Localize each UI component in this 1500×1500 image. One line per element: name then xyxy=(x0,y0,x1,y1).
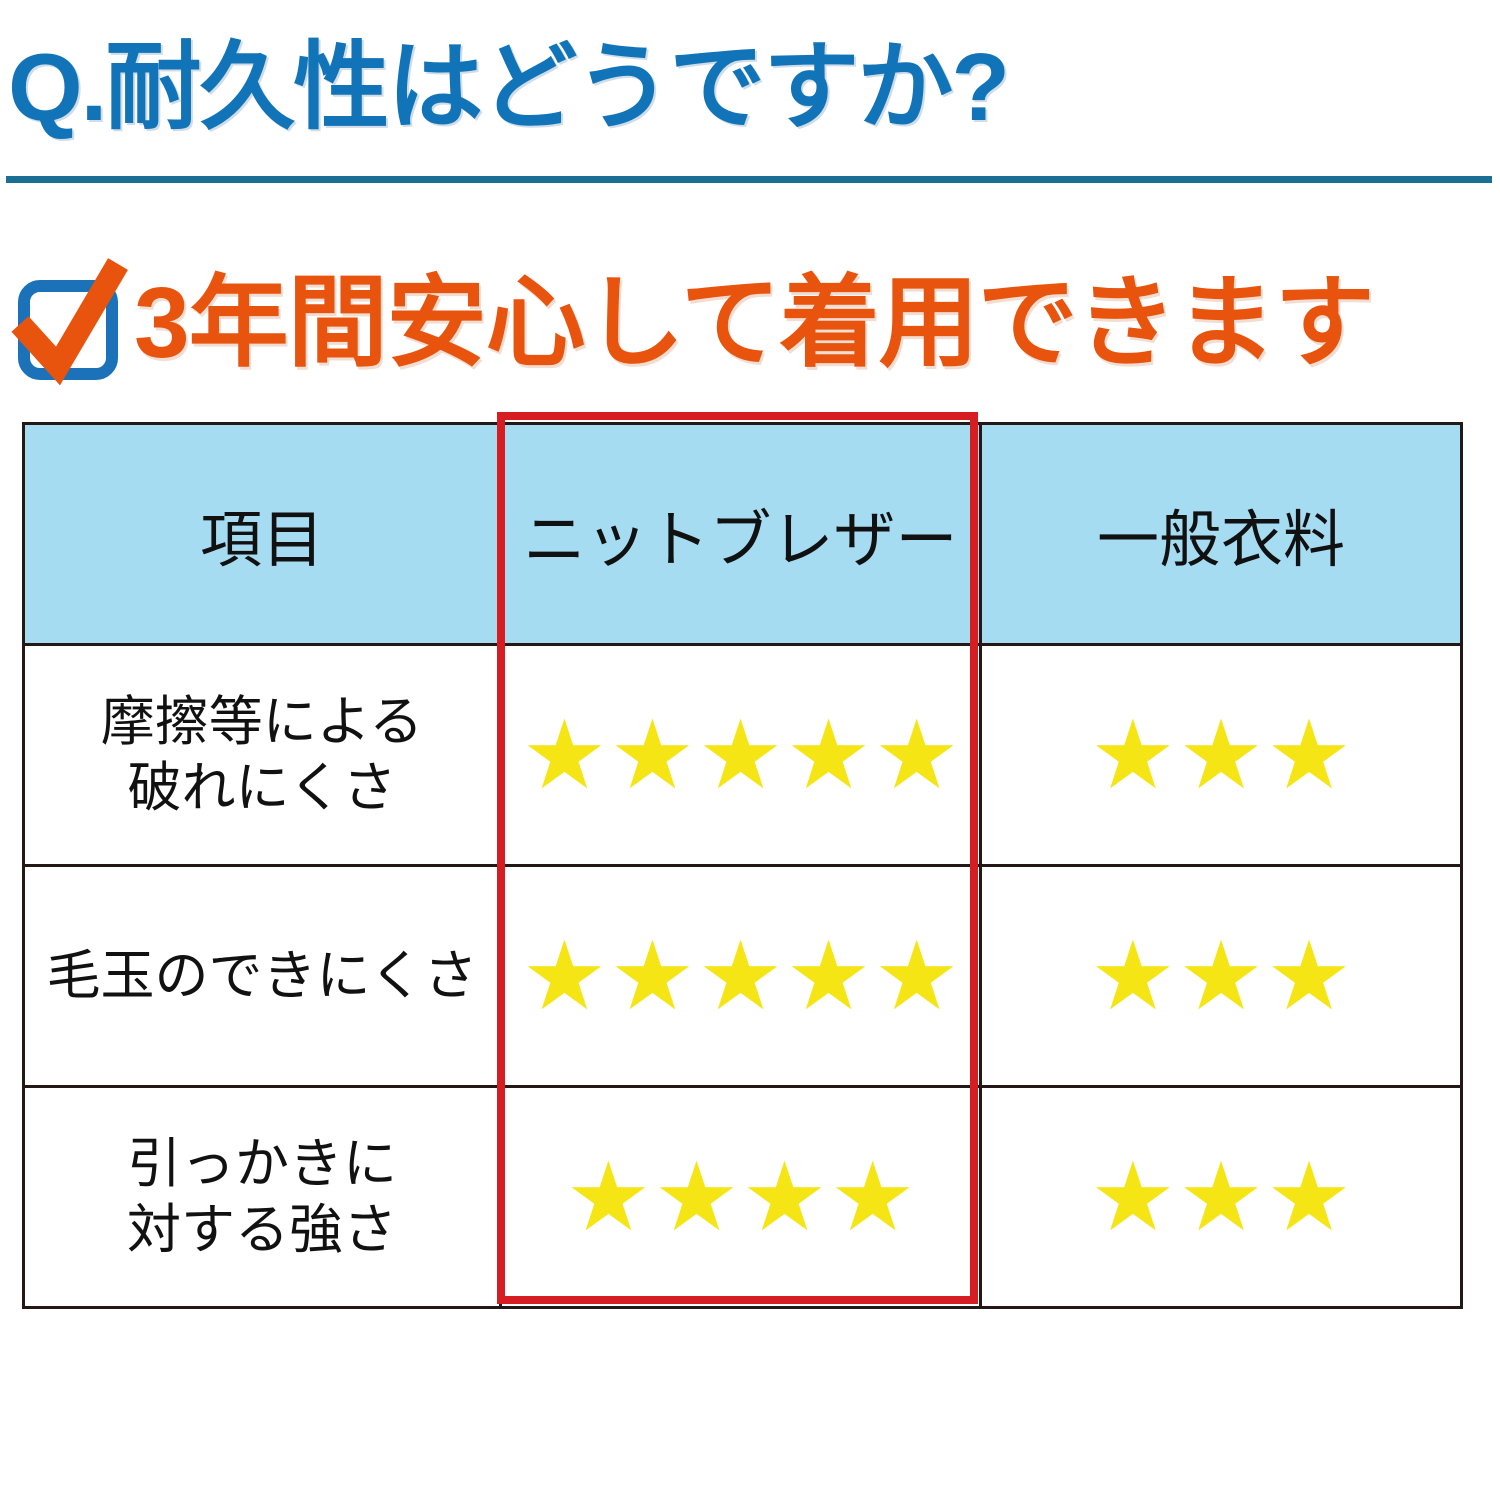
star-icon: ★ xyxy=(1090,1149,1176,1245)
rating-general-snagging: ★★★ xyxy=(981,1087,1462,1308)
star-icon: ★ xyxy=(786,707,872,803)
star-icon: ★ xyxy=(874,928,960,1024)
star-icon: ★ xyxy=(653,1149,739,1245)
star-icon: ★ xyxy=(1090,928,1176,1024)
row-label-pilling: 毛玉のできにくさ xyxy=(24,866,501,1087)
rating-knit-pilling: ★★★★★ xyxy=(501,866,981,1087)
column-header-knit-blazer: ニットブレザー xyxy=(501,424,981,645)
page-title: Q.耐久性はどうですか? xyxy=(8,38,1008,139)
star-rating: ★★★ xyxy=(982,1149,1460,1245)
rating-general-abrasion: ★★★ xyxy=(981,645,1462,866)
column-header-general-clothing: 一般衣料 xyxy=(981,424,1462,645)
star-icon: ★ xyxy=(1090,707,1176,803)
star-icon: ★ xyxy=(697,928,783,1024)
star-icon: ★ xyxy=(697,707,783,803)
checkbox-checked-icon xyxy=(10,258,130,388)
star-icon: ★ xyxy=(565,1149,651,1245)
star-icon: ★ xyxy=(786,928,872,1024)
table-row: 毛玉のできにくさ ★★★★★ ★★★ xyxy=(24,866,1462,1087)
rating-knit-abrasion: ★★★★★ xyxy=(501,645,981,866)
star-icon: ★ xyxy=(1178,928,1264,1024)
star-rating: ★★★★★ xyxy=(502,928,979,1024)
star-rating: ★★★★ xyxy=(502,1149,979,1245)
star-icon: ★ xyxy=(874,707,960,803)
star-icon: ★ xyxy=(521,928,607,1024)
star-rating: ★★★★★ xyxy=(502,707,979,803)
star-icon: ★ xyxy=(1266,928,1352,1024)
title-divider xyxy=(6,176,1492,183)
star-icon: ★ xyxy=(1266,1149,1352,1245)
durability-comparison-table: 項目 ニットブレザー 一般衣料 摩擦等による 破れにくさ ★★★★★ ★★★ 毛… xyxy=(22,422,1463,1309)
table-row: 引っかきに 対する強さ ★★★★ ★★★ xyxy=(24,1087,1462,1308)
subheading-row: 3年間安心して着用できます xyxy=(10,258,1374,388)
star-icon: ★ xyxy=(609,928,695,1024)
star-rating: ★★★ xyxy=(982,707,1460,803)
column-header-item: 項目 xyxy=(24,424,501,645)
row-label-abrasion: 摩擦等による 破れにくさ xyxy=(24,645,501,866)
star-icon: ★ xyxy=(1178,707,1264,803)
table-row: 摩擦等による 破れにくさ ★★★★★ ★★★ xyxy=(24,645,1462,866)
table-header-row: 項目 ニットブレザー 一般衣料 xyxy=(24,424,1462,645)
star-icon: ★ xyxy=(1266,707,1352,803)
star-icon: ★ xyxy=(521,707,607,803)
star-rating: ★★★ xyxy=(982,928,1460,1024)
star-icon: ★ xyxy=(1178,1149,1264,1245)
star-icon: ★ xyxy=(830,1149,916,1245)
star-icon: ★ xyxy=(742,1149,828,1245)
star-icon: ★ xyxy=(609,707,695,803)
subheading-text: 3年間安心して着用できます xyxy=(134,273,1374,373)
row-label-snagging: 引っかきに 対する強さ xyxy=(24,1087,501,1308)
rating-knit-snagging: ★★★★ xyxy=(501,1087,981,1308)
rating-general-pilling: ★★★ xyxy=(981,866,1462,1087)
